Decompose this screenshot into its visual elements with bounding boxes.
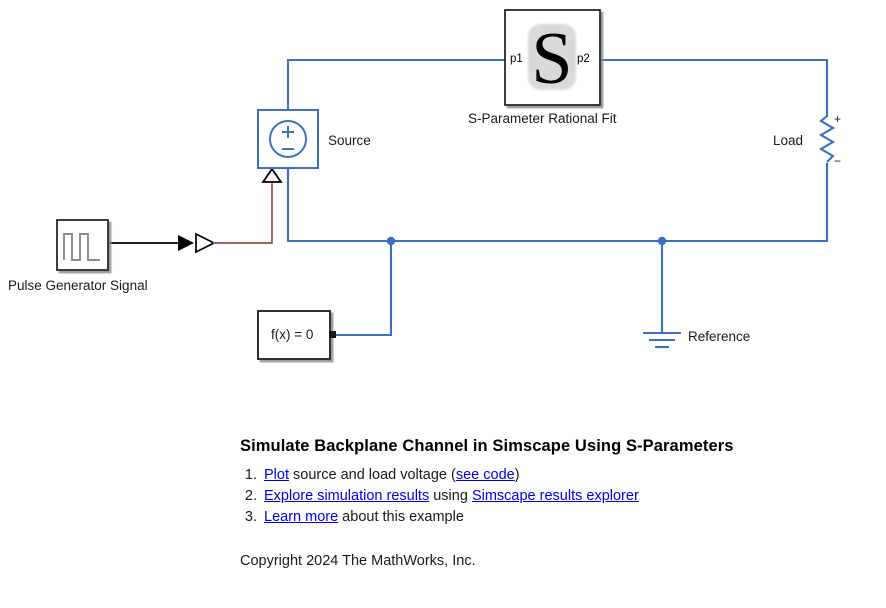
wire-solver-to-bus — [333, 241, 391, 335]
simulink-ps-converter-icon — [196, 234, 214, 252]
annotation-block: Simulate Backplane Channel in Simscape U… — [240, 437, 870, 569]
signal-arrowhead-icon — [178, 235, 194, 251]
load-block-label: Load — [773, 134, 803, 148]
load-plus-label: + — [834, 112, 841, 126]
annotation-link[interactable]: Plot — [264, 467, 289, 483]
load-minus-label: − — [834, 154, 841, 168]
block-load-resistor[interactable]: + − — [821, 112, 841, 168]
block-pulse-generator[interactable] — [57, 220, 108, 270]
block-source[interactable] — [258, 110, 318, 168]
solver-port-icon — [329, 331, 336, 338]
sparam-s-glyph: S — [531, 18, 572, 100]
wire-load-to-bus — [288, 164, 827, 241]
annotation-step: Explore simulation results using Simscap… — [261, 486, 870, 507]
source-block-label: Source — [328, 134, 371, 148]
reference-block-label: Reference — [688, 330, 750, 344]
block-reference-ground[interactable] — [643, 333, 681, 347]
annotation-link[interactable]: Simscape results explorer — [472, 488, 639, 504]
pulse-generator-label: Pulse Generator Signal — [8, 279, 148, 293]
sparam-port-p2-label: p2 — [577, 54, 590, 66]
annotation-link[interactable]: Learn more — [264, 509, 338, 525]
annotation-text: using — [429, 488, 472, 504]
sparam-block-label: S-Parameter Rational Fit — [468, 112, 617, 126]
ps-wire-group — [214, 182, 272, 243]
source-ps-port-icon — [263, 169, 281, 182]
annotation-step-list: Plot source and load voltage (see code)E… — [240, 465, 870, 528]
copyright-text: Copyright 2024 The MathWorks, Inc. — [240, 553, 870, 569]
annotation-text: about this example — [338, 509, 464, 525]
wire-sparam-p2-to-load — [600, 60, 827, 116]
annotation-text: source and load voltage ( — [289, 467, 456, 483]
annotation-text: ) — [515, 467, 520, 483]
annotation-link[interactable]: Explore simulation results — [264, 488, 429, 504]
annotation-step: Learn more about this example — [261, 507, 870, 528]
sparam-port-p1-label: p1 — [510, 54, 523, 66]
annotation-link[interactable]: see code — [456, 467, 515, 483]
wire-source-to-sparam-p1 — [288, 60, 505, 110]
signal-wire-group — [108, 234, 214, 252]
annotation-step: Plot source and load voltage (see code) — [261, 465, 870, 486]
source-block-body[interactable] — [258, 110, 318, 168]
resistor-zigzag-icon[interactable] — [821, 116, 833, 162]
annotation-title: Simulate Backplane Channel in Simscape U… — [240, 437, 870, 456]
solver-block-label: f(x) = 0 — [271, 328, 313, 342]
junction-dot-reference — [658, 237, 666, 245]
wire-converter-to-source — [214, 182, 272, 243]
junction-dot-solver — [387, 237, 395, 245]
